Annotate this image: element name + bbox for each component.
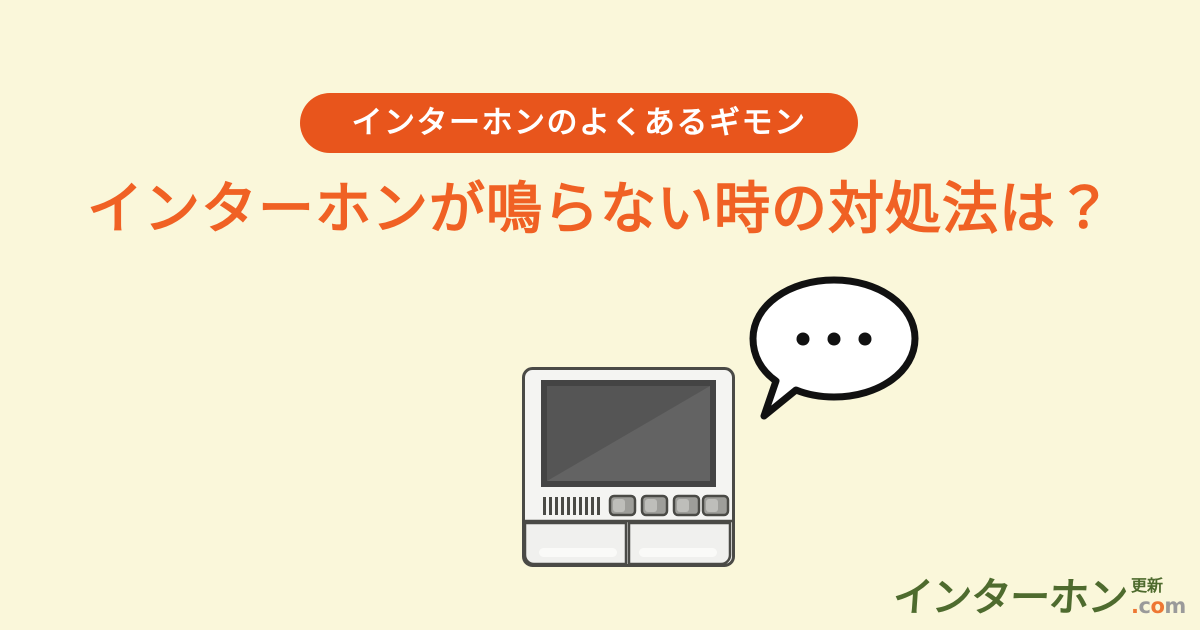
intercom-panel-left	[525, 523, 626, 564]
speech-bubble	[748, 276, 920, 421]
site-logo-brand: インターホン	[892, 578, 1129, 618]
bubble-dot-3	[859, 333, 872, 346]
bubble-dot-1	[797, 333, 810, 346]
site-logo-suffix: 更新 .com	[1131, 579, 1186, 618]
intercom-button-4	[703, 496, 728, 515]
intercom-button-3	[674, 496, 699, 515]
site-logo-tld-m: m	[1164, 594, 1185, 618]
site-logo-tld-c: c	[1138, 594, 1150, 618]
speech-bubble-shape	[753, 280, 915, 416]
page-title: インターホンが鳴らない時の対処法は？	[0, 178, 1200, 240]
site-logo[interactable]: インターホン 更新 .com	[893, 562, 1189, 618]
site-logo-tld: .com	[1131, 596, 1186, 617]
site-logo-tld-o: o	[1150, 594, 1164, 618]
intercom-panel-right	[629, 523, 730, 564]
page-canvas: インターホンのよくあるギモン インターホンが鳴らない時の対処法は？	[0, 0, 1200, 630]
intercom-monitor	[521, 366, 736, 568]
intercom-button-2	[642, 496, 667, 515]
category-badge: インターホンのよくあるギモン	[300, 93, 858, 153]
site-logo-kousin: 更新	[1131, 579, 1163, 595]
bubble-dot-2	[828, 333, 841, 346]
intercom-button-1	[610, 496, 635, 515]
category-badge-label: インターホンのよくあるギモン	[352, 107, 807, 138]
